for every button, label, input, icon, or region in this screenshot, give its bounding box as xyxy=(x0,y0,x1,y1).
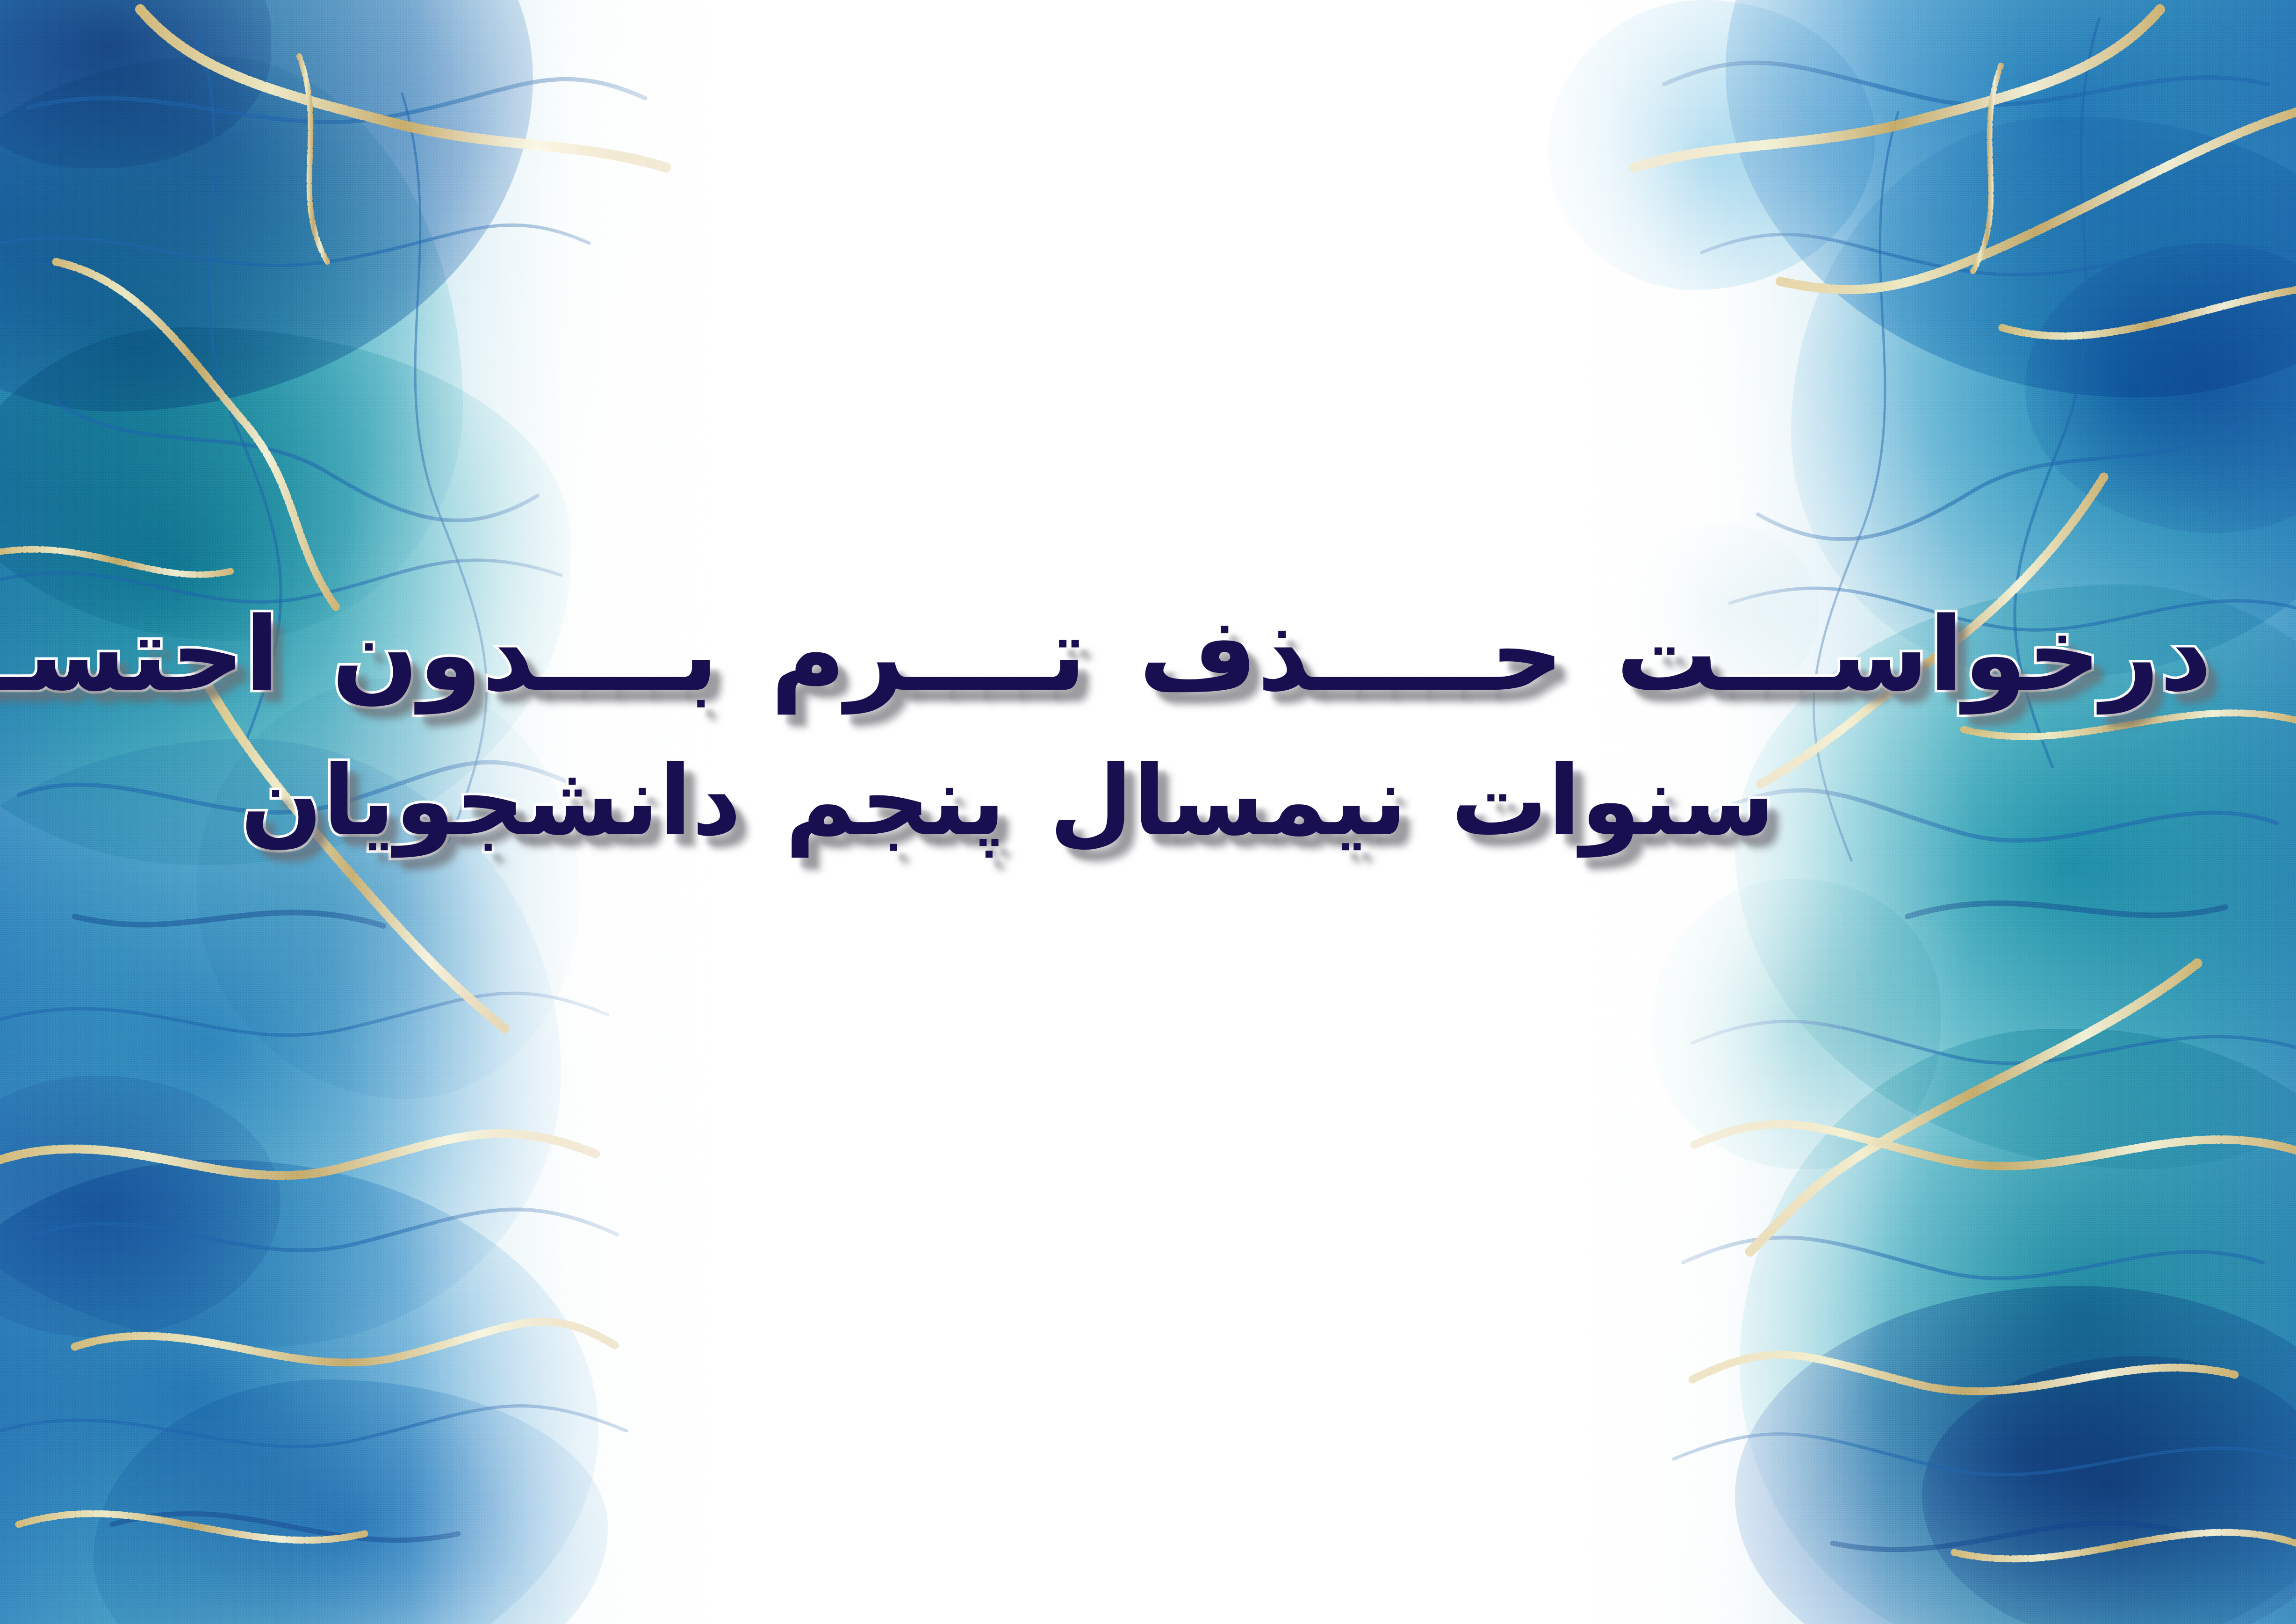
banner-canvas: درخواســـت حـــــذف تــــرم بــــدون احت… xyxy=(0,0,2296,1624)
title-line-2: سنوات نیمسال پنجم دانشجویان xyxy=(0,752,2156,850)
title-line-1: درخواســـت حـــــذف تــــرم بــــدون احت… xyxy=(0,603,2296,707)
title-block: درخواســـت حـــــذف تــــرم بــــدون احت… xyxy=(0,603,2296,850)
